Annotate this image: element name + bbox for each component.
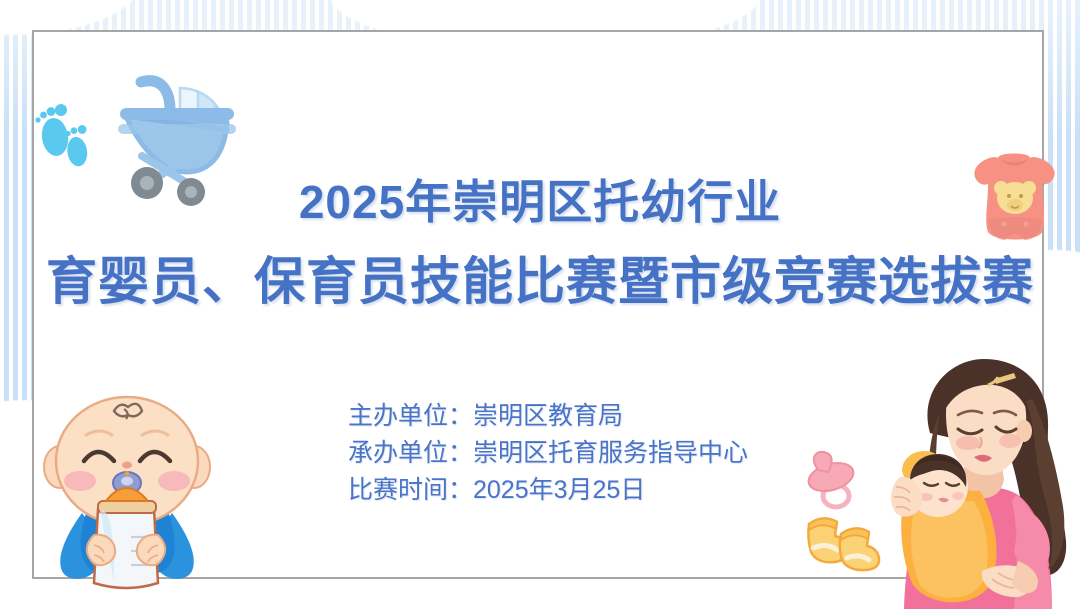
baby-booties-icon (803, 508, 881, 570)
poster-details: 主办单位：崇明区教育局 承办单位：崇明区托育服务指导中心 比赛时间：2025年3… (348, 398, 748, 509)
cartoon-baby-with-bottle-illustration (36, 385, 218, 595)
baby-footprints-icon (34, 96, 100, 168)
pacifier-icon (800, 448, 866, 512)
poster-titles: 2025年崇明区托幼行业 育婴员、保育员技能比赛暨市级竞赛选拔赛 (0, 174, 1080, 313)
poster-root: 2025年崇明区托幼行业 育婴员、保育员技能比赛暨市级竞赛选拔赛 主办单位：崇明… (0, 0, 1080, 609)
competition-date-line: 比赛时间：2025年3月25日 (348, 472, 748, 509)
mother-holding-baby-illustration (876, 355, 1080, 609)
poster-title-line-1: 2025年崇明区托幼行业 (0, 174, 1080, 232)
poster-title-line-2: 育婴员、保育员技能比赛暨市级竞赛选拔赛 (0, 250, 1080, 314)
organizer-line: 主办单位：崇明区教育局 (348, 398, 748, 435)
host-line: 承办单位：崇明区托育服务指导中心 (348, 435, 748, 472)
